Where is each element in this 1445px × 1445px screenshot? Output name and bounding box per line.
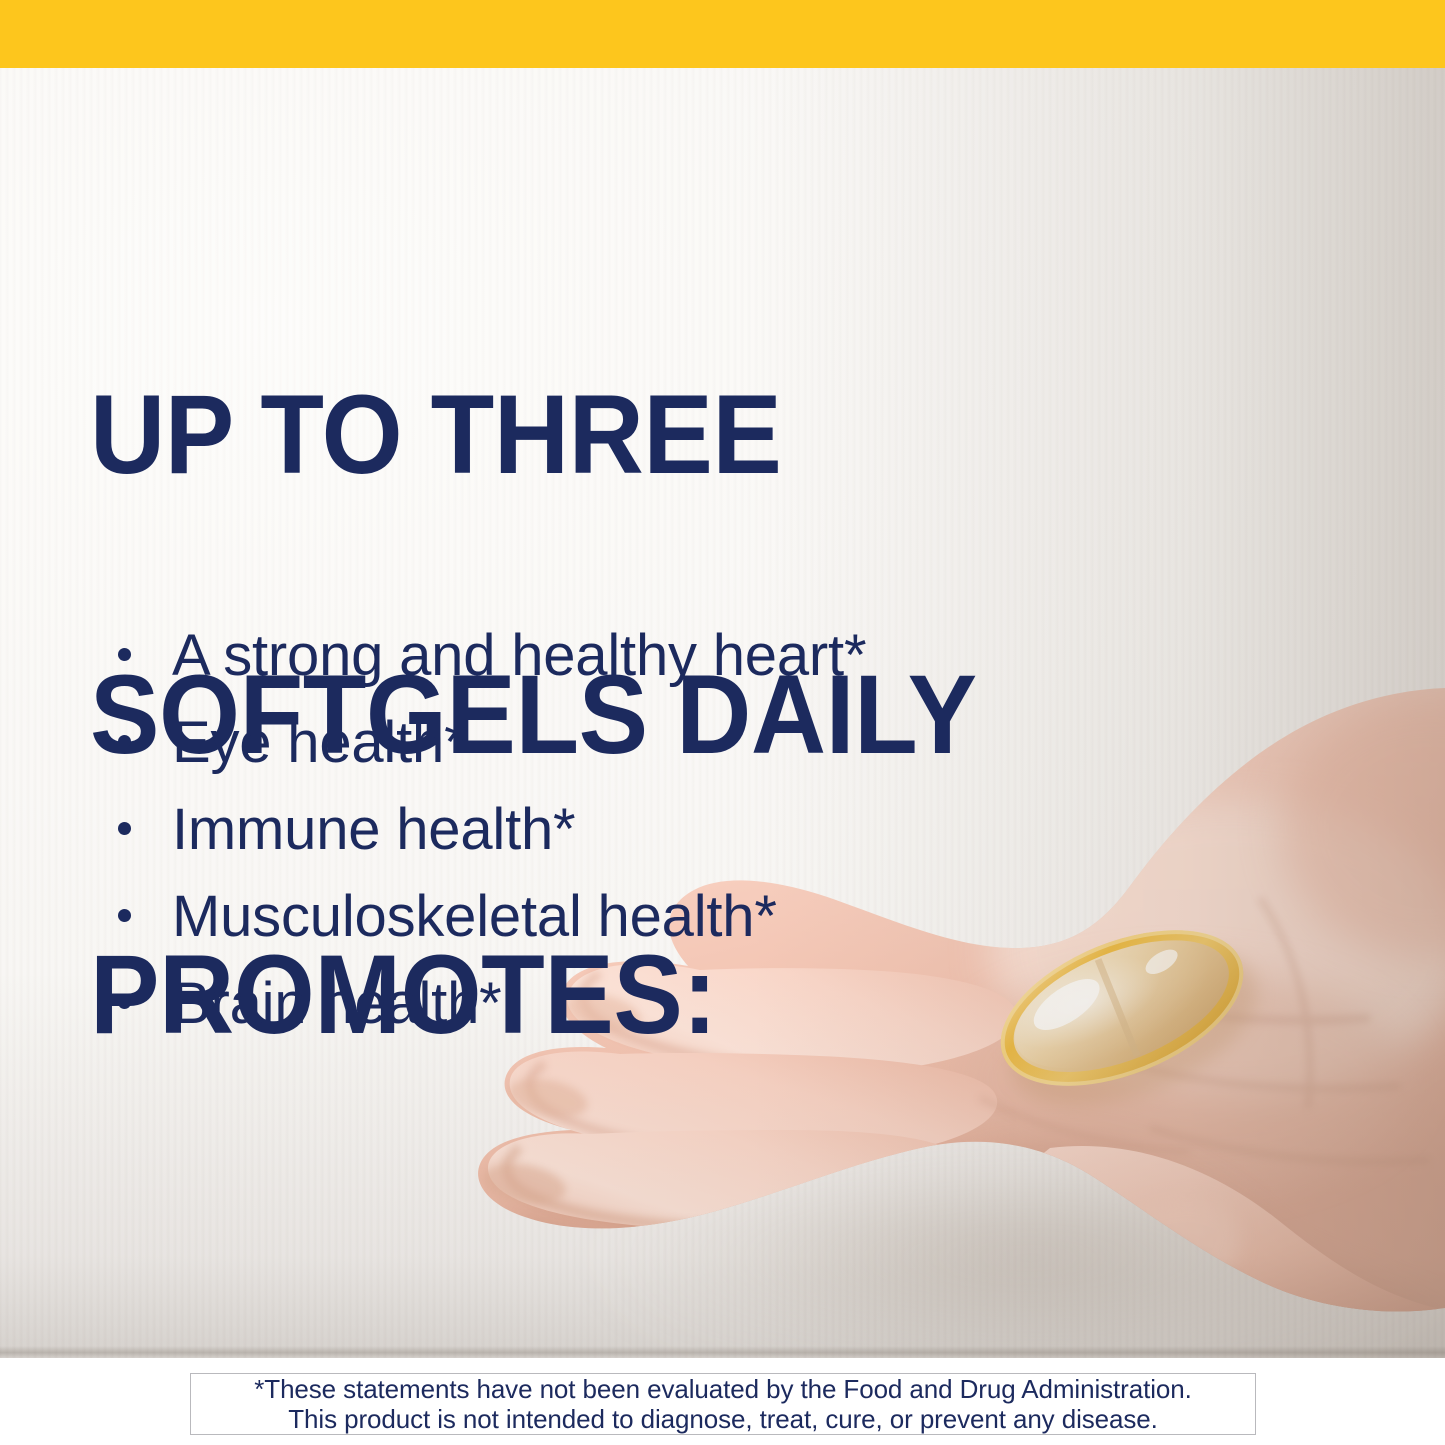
backdrop-fold-line bbox=[0, 1346, 1445, 1358]
wrist-shade bbox=[1280, 698, 1445, 958]
bullet-icon bbox=[118, 648, 131, 661]
softgel-highlight-small bbox=[1142, 945, 1182, 979]
benefit-label: A strong and healthy heart* bbox=[172, 623, 866, 688]
benefits-list: A strong and healthy heart* Eye health* … bbox=[118, 612, 1038, 1047]
list-item: Musculoskeletal health* bbox=[118, 873, 1038, 960]
bullet-icon bbox=[118, 735, 131, 748]
headline-line-1: UP TO THREE bbox=[90, 365, 1113, 505]
benefit-label: Eye health* bbox=[172, 710, 466, 775]
disclaimer-line-2: This product is not intended to diagnose… bbox=[288, 1404, 1158, 1434]
list-item: Brain health* bbox=[118, 960, 1038, 1047]
fda-disclaimer: *These statements have not been evaluate… bbox=[190, 1373, 1256, 1435]
bullet-icon bbox=[118, 996, 131, 1009]
bullet-icon bbox=[118, 909, 131, 922]
list-item: Immune health* bbox=[118, 786, 1038, 873]
list-item: A strong and healthy heart* bbox=[118, 612, 1038, 699]
product-benefit-infographic: UP TO THREE SOFTGELS DAILY PROMOTES: A s… bbox=[0, 0, 1445, 1445]
benefit-label: Brain health* bbox=[172, 971, 502, 1036]
bullet-icon bbox=[118, 822, 131, 835]
top-accent-band bbox=[0, 0, 1445, 68]
disclaimer-line-1: *These statements have not been evaluate… bbox=[254, 1374, 1191, 1404]
benefit-label: Immune health* bbox=[172, 797, 575, 862]
benefit-label: Musculoskeletal health* bbox=[172, 884, 777, 949]
list-item: Eye health* bbox=[118, 699, 1038, 786]
thumb-crease bbox=[1030, 1198, 1250, 1290]
